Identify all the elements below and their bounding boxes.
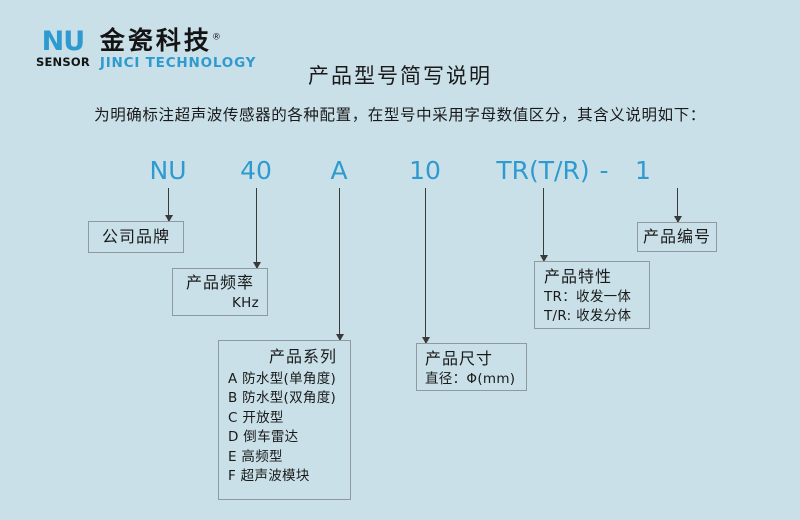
page-subtitle: 为明确标注超声波传感器的各种配置，在型号中采用字母数值区分，其含义说明如下： <box>0 103 800 125</box>
connector-line-freq <box>256 188 257 268</box>
callout-serial-title: 产品编号 <box>643 226 711 248</box>
series-item-3: D 倒车雷达 <box>228 428 341 448</box>
callout-feature-title: 产品特性 <box>544 266 640 288</box>
callout-frequency-unit: KHz <box>181 294 259 314</box>
callout-box-serial: 产品编号 <box>637 222 717 252</box>
callout-box-frequency: 产品频率 KHz <box>172 268 268 316</box>
series-item-2: C 开放型 <box>228 409 341 429</box>
model-code-token-2: A <box>330 156 347 185</box>
model-code-token-6: 1 <box>635 156 651 185</box>
callout-feature-line-tr: TR：收发一体 <box>544 288 640 308</box>
callout-size-title: 产品尺寸 <box>425 348 518 370</box>
series-item-1: B 防水型(双角度) <box>228 389 341 409</box>
connector-line-feature <box>543 188 544 261</box>
callout-size-detail: 直径：Φ(mm) <box>425 370 518 390</box>
model-code-token-0: NU <box>150 156 187 185</box>
logo-company-name-cn-text: 金瓷科技 <box>100 26 212 55</box>
model-code-token-5: - <box>599 156 608 185</box>
diagram-canvas: NU SENSOR 金瓷科技® JINCI TECHNOLOGY 产品型号简写说… <box>0 0 800 520</box>
registered-trademark-icon: ® <box>212 33 221 43</box>
callout-brand-title: 公司品牌 <box>102 226 170 248</box>
series-item-4: E 高频型 <box>228 448 341 468</box>
logo-nu-text: NU <box>42 28 85 55</box>
callout-series-title: 产品系列 <box>228 346 341 368</box>
connector-line-size <box>425 188 426 343</box>
model-code-token-4: TR(T/R) <box>496 156 589 185</box>
series-item-list: A 防水型(单角度)B 防水型(双角度)C 开放型D 倒车雷达E 高频型F 超声… <box>228 370 341 487</box>
page-title: 产品型号简写说明 <box>0 60 800 90</box>
callout-box-feature: 产品特性 TR：收发一体 T/R: 收发分体 <box>534 261 650 329</box>
callout-box-series: 产品系列 A 防水型(单角度)B 防水型(双角度)C 开放型D 倒车雷达E 高频… <box>218 340 351 500</box>
logo-company-name-cn: 金瓷科技® <box>100 28 256 53</box>
callout-box-brand: 公司品牌 <box>88 221 184 253</box>
model-code-token-3: 10 <box>409 156 441 185</box>
callout-feature-line-t-r: T/R: 收发分体 <box>544 307 640 327</box>
callout-frequency-title: 产品频率 <box>181 272 259 294</box>
model-code-token-1: 40 <box>240 156 272 185</box>
connector-line-series <box>339 188 340 340</box>
callout-box-size: 产品尺寸 直径：Φ(mm) <box>416 343 527 391</box>
series-item-5: F 超声波模块 <box>228 467 341 487</box>
series-item-0: A 防水型(单角度) <box>228 370 341 390</box>
